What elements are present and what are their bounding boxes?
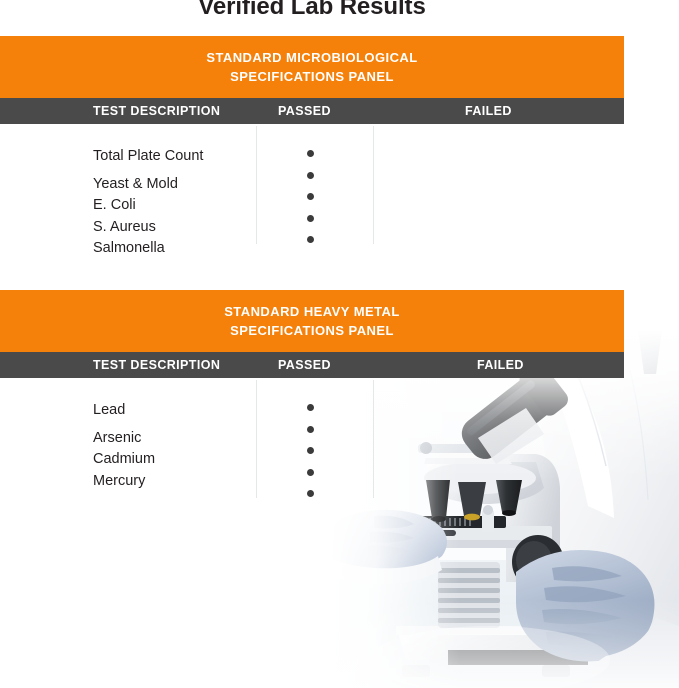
panel-heavy-metal: STANDARD HEAVY METAL SPECIFICATIONS PANE…	[0, 290, 624, 502]
photo-fade-bottom	[330, 600, 679, 688]
page-title: Verified Lab Results	[0, 0, 624, 21]
column-divider	[373, 126, 374, 244]
table-header-row: TEST DESCRIPTION PASSED FAILED	[0, 352, 624, 378]
column-header-passed: PASSED	[278, 358, 331, 372]
panel-banner-line-1: STANDARD MICROBIOLOGICAL	[206, 48, 417, 67]
passed-mark	[307, 404, 314, 411]
column-divider	[256, 126, 257, 244]
test-row-label: Arsenic	[93, 428, 155, 450]
panel-banner: STANDARD HEAVY METAL SPECIFICATIONS PANE…	[0, 290, 624, 352]
test-row-label: S. Aureus	[93, 217, 203, 239]
column-header-passed: PASSED	[278, 104, 331, 118]
panel-banner-line-2: SPECIFICATIONS PANEL	[230, 67, 394, 86]
test-description-list: Total Plate Count Yeast & Mold E. Coli S…	[93, 146, 203, 260]
test-row-label: Salmonella	[93, 238, 203, 260]
passed-mark	[307, 469, 314, 476]
passed-marks-column	[307, 404, 314, 512]
column-header-failed: FAILED	[477, 358, 524, 372]
passed-mark	[307, 236, 314, 243]
test-description-list: Lead Arsenic Cadmium Mercury	[93, 400, 155, 492]
table-body: Lead Arsenic Cadmium Mercury	[0, 378, 624, 502]
passed-mark	[307, 426, 314, 433]
passed-mark	[307, 172, 314, 179]
panel-banner-line-1: STANDARD HEAVY METAL	[224, 302, 400, 321]
passed-mark	[307, 150, 314, 157]
test-row-label: E. Coli	[93, 195, 203, 217]
table-header-row: TEST DESCRIPTION PASSED FAILED	[0, 98, 624, 124]
test-row-label: Mercury	[93, 471, 155, 493]
column-header-test-description: TEST DESCRIPTION	[93, 104, 220, 118]
passed-marks-column	[307, 150, 314, 258]
test-row-label: Cadmium	[93, 449, 155, 471]
column-header-failed: FAILED	[465, 104, 512, 118]
passed-mark	[307, 447, 314, 454]
panel-banner: STANDARD MICROBIOLOGICAL SPECIFICATIONS …	[0, 36, 624, 98]
column-divider	[256, 380, 257, 498]
panel-banner-line-2: SPECIFICATIONS PANEL	[230, 321, 394, 340]
test-row-label: Total Plate Count	[93, 146, 203, 168]
table-body: Total Plate Count Yeast & Mold E. Coli S…	[0, 124, 624, 248]
column-header-test-description: TEST DESCRIPTION	[93, 358, 220, 372]
passed-mark	[307, 193, 314, 200]
test-row-label: Lead	[93, 400, 155, 422]
test-row-label: Yeast & Mold	[93, 174, 203, 196]
panel-microbiological: STANDARD MICROBIOLOGICAL SPECIFICATIONS …	[0, 36, 624, 248]
passed-mark	[307, 490, 314, 497]
column-divider	[373, 380, 374, 498]
passed-mark	[307, 215, 314, 222]
